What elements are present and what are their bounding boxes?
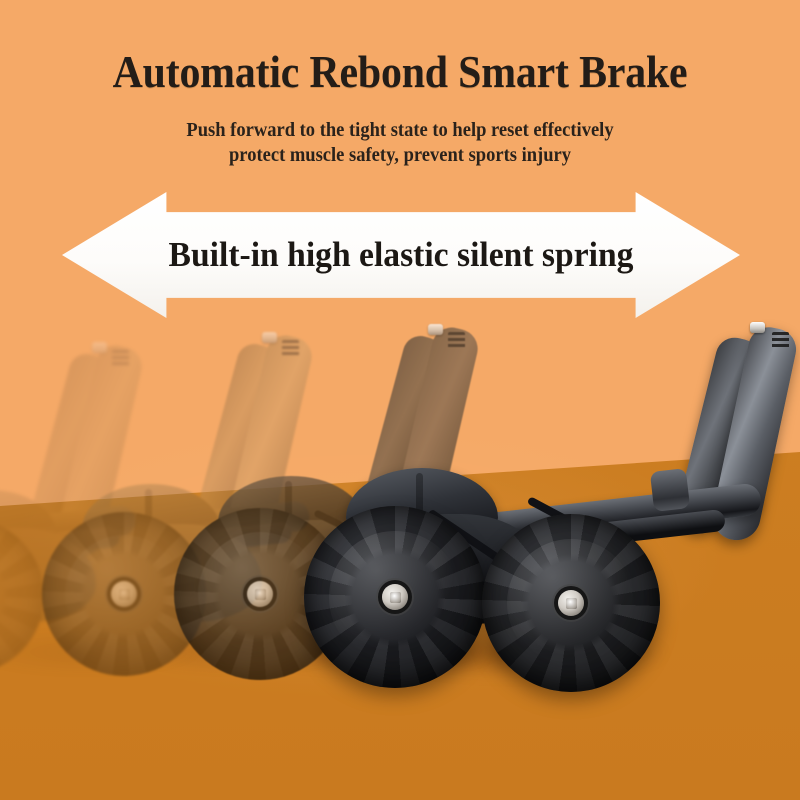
grip-clip <box>750 322 765 333</box>
grip-ribs <box>772 332 789 350</box>
page-subtitle: Push forward to the tight state to help … <box>20 118 780 168</box>
wheel-hub-bolt <box>111 581 137 607</box>
product-marketing-image: Automatic Rebond Smart Brake Push forwar… <box>0 0 800 800</box>
wheel-hub-bolt <box>382 584 408 610</box>
wheel-hub-bolt <box>247 581 273 607</box>
tube-collar-right <box>650 468 690 512</box>
wheel-left <box>304 506 486 688</box>
banner-label: Built-in high elastic silent spring <box>76 192 727 318</box>
wheel-hub-bolt <box>558 590 584 616</box>
subtitle-line-2: protect muscle safety, prevent sports in… <box>20 143 780 168</box>
page-title: Automatic Rebond Smart Brake <box>28 46 772 98</box>
subtitle-line-1: Push forward to the tight state to help … <box>186 120 613 141</box>
wheel-right <box>482 514 660 692</box>
